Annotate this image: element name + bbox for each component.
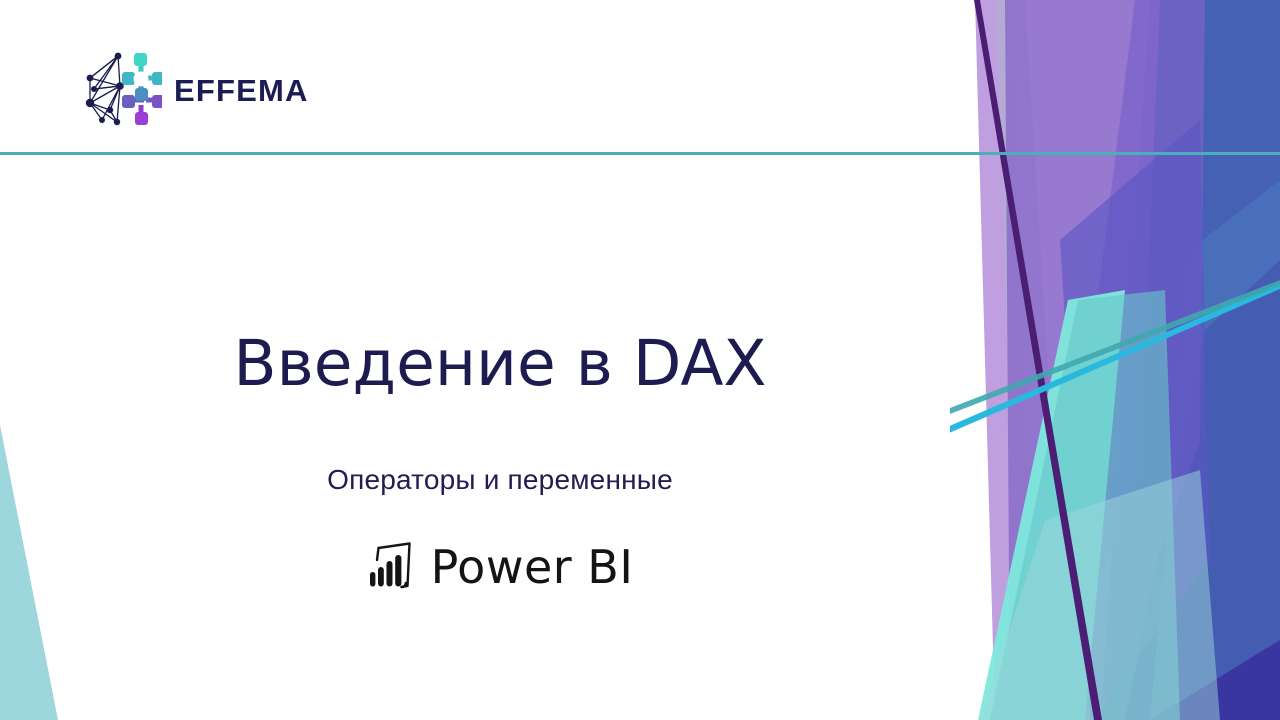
deco-shape-blue-base [1100,0,1280,720]
power-bi-bar-3 [386,561,392,587]
power-bi-wordmark: Power BI [431,544,634,590]
effema-network-logo-icon [84,48,162,132]
deco-shape-turquoise [990,290,1180,720]
header-rule [0,152,1280,155]
power-bi-lockup: Power BI [367,542,634,592]
power-bi-bar-2 [378,567,384,587]
logo-node-purple-bottom [135,112,148,125]
deco-shape-indigo-overlay [1060,120,1210,720]
logo-node-teal-top [134,53,147,66]
deco-shape-steel-blue [1150,180,1280,720]
power-bi-bar-4 [395,555,401,587]
power-bi-bar-1 [370,572,375,587]
slide-title: Введение в DAX [0,330,1000,398]
logo-node-teal-right [152,72,162,85]
brand-wordmark: EFFEMA [174,75,309,106]
slide-content: Введение в DAX Операторы и переменные Po… [0,330,1000,597]
slide-canvas: EFFEMA Введение в DAX Операторы и переме… [0,0,1280,720]
logo-node-blue-mid [135,88,148,101]
deco-shape-turquoise-bright [978,290,1125,720]
brand-logo: EFFEMA [84,48,309,132]
deco-shape-violet-overlay [1045,0,1205,720]
deco-shape-lavender-sliver [996,0,1070,720]
power-bi-icon [367,542,415,592]
deco-shape-soft-teal [980,470,1220,720]
logo-node-violet-left [122,95,135,108]
slide-subtitle: Операторы и переменные [0,464,1000,496]
logo-node-teal-left [122,72,135,85]
logo-node-violet-right [152,95,162,108]
deco-shape-deep-indigo [1125,260,1280,720]
deco-shape-purple-body [1005,0,1160,720]
